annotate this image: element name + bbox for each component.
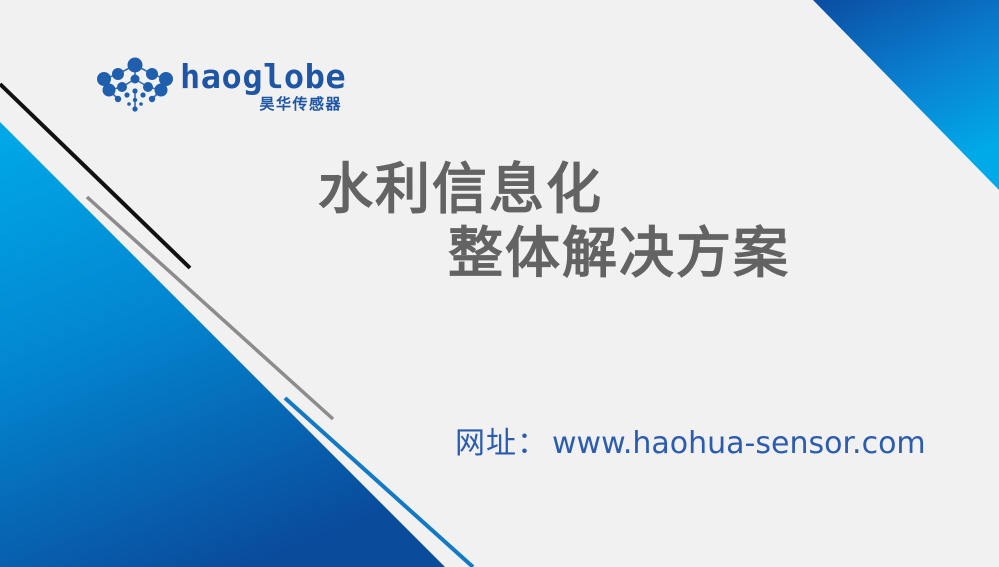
title-line-2: 整体解决方案 (0, 222, 999, 286)
brand-logo: haoglobe 昊华传感器 (96, 57, 343, 115)
logo-wordmark: haoglobe (180, 60, 346, 93)
slide-title: 水利信息化 整体解决方案 (0, 158, 999, 286)
website-line: 网址： www.haohua-sensor.com (455, 418, 926, 462)
logo-chinese-name: 昊华传感器 (259, 97, 342, 112)
website-label: 网址： (455, 418, 548, 462)
blue-accent-line (285, 398, 473, 567)
presentation-slide: haoglobe 昊华传感器 水利信息化 整体解决方案 网址： www.haoh… (0, 0, 999, 567)
title-line-1: 水利信息化 (0, 158, 999, 222)
network-nodes-logo-icon (96, 57, 174, 115)
website-url[interactable]: www.haohua-sensor.com (552, 426, 926, 461)
logo-text-block: haoglobe 昊华传感器 (180, 60, 343, 112)
